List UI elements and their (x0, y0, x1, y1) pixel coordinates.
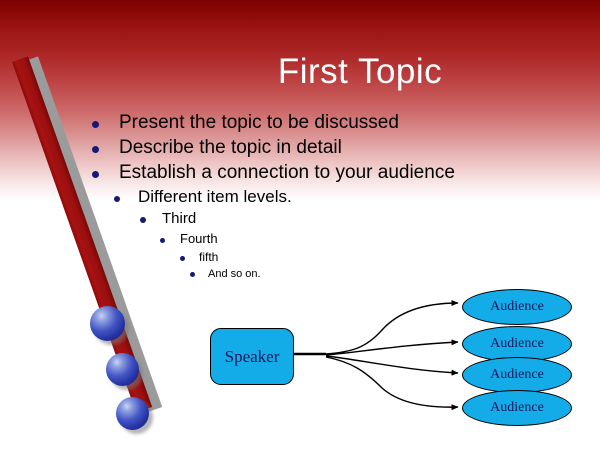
bullet-dot-icon (160, 238, 165, 243)
list-item-label: Establish a connection to your audience (119, 162, 455, 184)
bullet-dot-icon (190, 272, 195, 277)
slide-title: First Topic (200, 52, 520, 92)
bullet-dot-icon (92, 121, 99, 128)
list-item: Third (140, 210, 522, 231)
diagram-node-speaker[interactable]: Speaker (210, 328, 294, 385)
blue-sphere-icon-1 (90, 306, 125, 341)
blue-sphere-icon-2 (106, 353, 139, 386)
diagram-node-audience-1[interactable]: Audience (462, 289, 572, 325)
list-item: fifth (180, 250, 522, 268)
diagram-node-label: Audience (490, 299, 544, 315)
list-item-label: fifth (199, 250, 218, 264)
list-item: Fourth (160, 231, 522, 250)
bullet-dot-icon (92, 171, 99, 178)
list-item-label: Describe the topic in detail (119, 137, 342, 159)
bullet-dot-icon (92, 146, 99, 153)
list-item: Describe the topic in detail (92, 137, 522, 162)
bullet-dot-icon (114, 196, 120, 202)
list-item: Establish a connection to your audience (92, 162, 522, 187)
list-item-label: And so on. (208, 268, 261, 280)
bullet-dot-icon (140, 217, 146, 223)
diagram-node-label: Audience (490, 367, 544, 383)
list-item-label: Different item levels. (138, 187, 292, 207)
list-item-label: Fourth (180, 231, 218, 246)
list-item-label: Third (162, 210, 196, 227)
list-item-label: Present the topic to be discussed (119, 112, 399, 134)
diagram-node-audience-3[interactable]: Audience (462, 357, 572, 393)
bullet-list: Present the topic to be discussed Descri… (92, 112, 522, 285)
list-item: Present the topic to be discussed (92, 112, 522, 137)
list-item: Different item levels. (114, 187, 522, 210)
bullet-dot-icon (180, 256, 185, 261)
diagram-node-label: Speaker (225, 347, 280, 367)
blue-sphere-icon-3 (116, 397, 149, 430)
presentation-slide: First Topic Present the topic to be disc… (0, 0, 600, 450)
diagram-node-label: Audience (490, 400, 544, 416)
diagram-node-label: Audience (490, 336, 544, 352)
list-item: And so on. (190, 268, 522, 285)
diagram-node-audience-4[interactable]: Audience (462, 390, 572, 426)
